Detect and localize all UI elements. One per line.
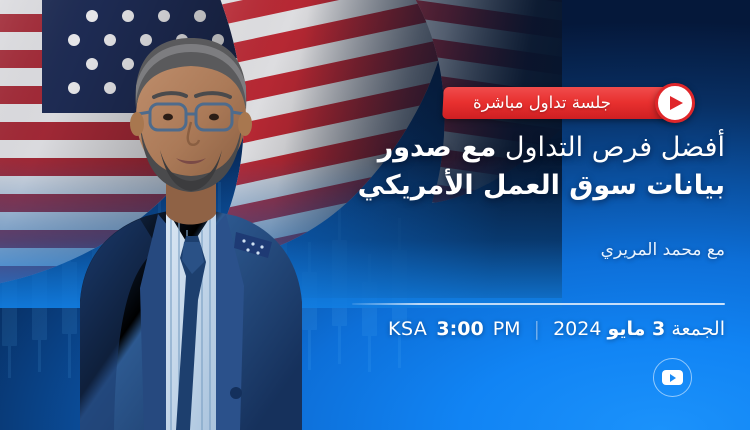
datetime-timezone: KSA <box>388 318 427 340</box>
headline-line-1-light: أفضل فرص التداول <box>505 132 725 163</box>
session-datetime: الجمعة 3 مايو 2024 | KSA 3:00 PM <box>285 318 725 340</box>
datetime-ampm: PM <box>493 318 521 340</box>
datetime-separator: | <box>534 318 540 340</box>
divider <box>352 303 725 305</box>
presenter-photo <box>40 0 340 430</box>
headline-line-1-bold: مع صدور <box>378 132 497 163</box>
headline-line-2: بيانات سوق العمل الأمريكي <box>285 167 725 205</box>
datetime-time: 3:00 <box>436 318 483 340</box>
youtube-play-triangle <box>670 374 676 382</box>
promo-banner: جلسة تداول مباشرة أفضل فرص التداول مع صد… <box>0 0 750 430</box>
headline-line-1: أفضل فرص التداول مع صدور <box>285 129 725 167</box>
youtube-play-icon[interactable] <box>653 358 692 397</box>
youtube-play-box <box>662 370 683 385</box>
play-triangle-icon[interactable] <box>655 83 695 123</box>
datetime-weekday: الجمعة <box>671 318 725 340</box>
headline: أفضل فرص التداول مع صدور بيانات سوق العم… <box>285 129 725 205</box>
live-session-badge[interactable]: جلسة تداول مباشرة <box>443 83 695 123</box>
datetime-day: 3 مايو <box>607 318 665 340</box>
presenter-credit: مع محمد المريري <box>285 240 725 260</box>
badge-label: جلسة تداول مباشرة <box>449 88 635 118</box>
play-triangle-shape <box>670 96 683 110</box>
datetime-year: 2024 <box>553 318 601 340</box>
